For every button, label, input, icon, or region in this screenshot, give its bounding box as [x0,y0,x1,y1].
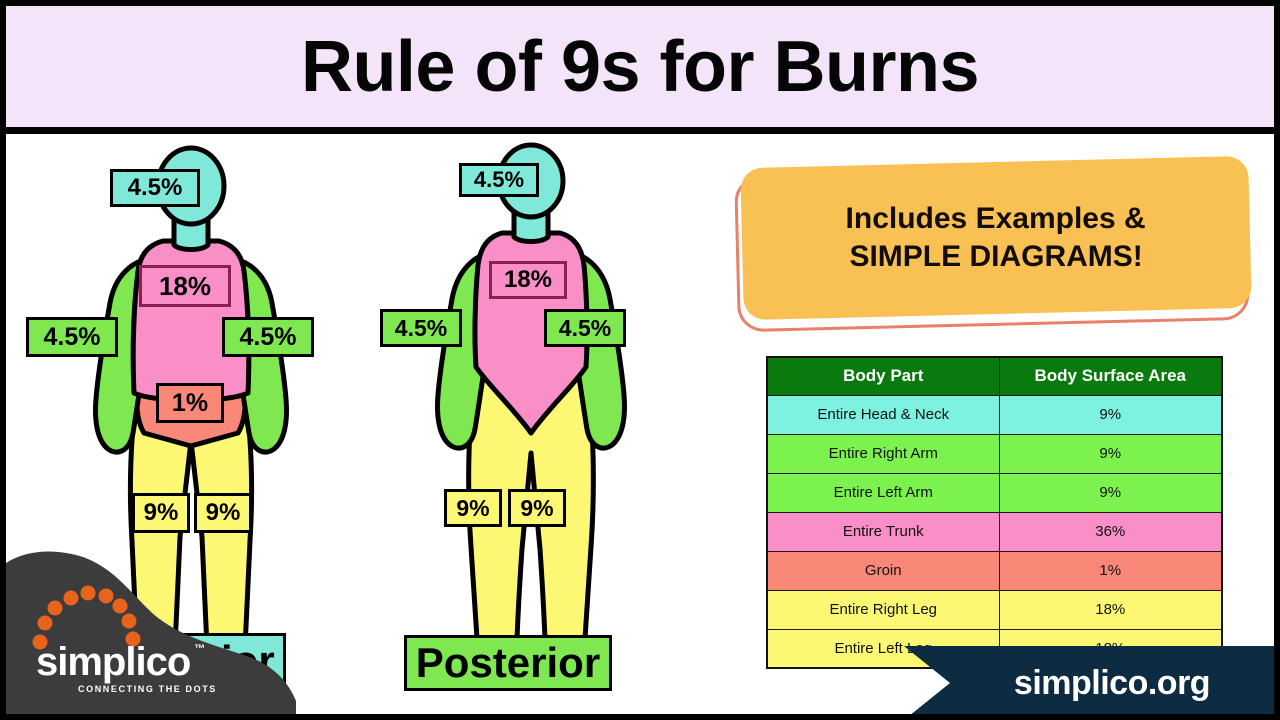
cell-body-part: Entire Left Arm [767,473,999,512]
cell-body-surface-area: 9% [999,473,1222,512]
posterior-body-diagram: 4.5% 18% 4.5% 4.5% 9% 9% Posterior [366,141,696,720]
table-row: Groin1% [767,551,1222,590]
anterior-right-arm-percent: 4.5% [26,317,118,357]
column-header-body-surface-area: Body Surface Area [999,357,1222,395]
title-banner: Rule of 9s for Burns [6,6,1274,134]
posterior-view-label: Posterior [404,635,612,691]
cell-body-surface-area: 36% [999,512,1222,551]
simplico-logo-text: simplico ™ CONNECTING THE DOTS [36,642,256,694]
callout-line-1: Includes Examples & [845,202,1145,236]
posterior-trunk-percent: 18% [489,261,567,299]
cell-body-surface-area: 18% [999,590,1222,629]
logo-tagline: CONNECTING THE DOTS [78,684,256,694]
column-header-body-part: Body Part [767,357,999,395]
body-surface-area-table: Body Part Body Surface Area Entire Head … [766,356,1223,669]
anterior-head-percent: 4.5% [110,169,200,207]
posterior-head-percent: 4.5% [459,163,539,197]
cell-body-part: Entire Right Leg [767,590,999,629]
infographic-page: Rule of 9s for Burns [0,0,1280,720]
anterior-groin-percent: 1% [156,383,224,423]
callout-line-2: SIMPLE DIAGRAMS! [850,240,1143,274]
anterior-left-leg-percent: 9% [194,493,252,533]
cell-body-part: Entire Head & Neck [767,395,999,434]
site-url-label: simplico.org [1014,664,1210,703]
logo-word-label: simplico [36,640,190,684]
table-row: Entire Right Leg18% [767,590,1222,629]
posterior-left-leg-percent: 9% [508,489,566,527]
cell-body-part: Entire Right Arm [767,434,999,473]
cell-body-surface-area: 9% [999,434,1222,473]
posterior-right-arm-percent: 4.5% [380,309,462,347]
logo-blob-shape [0,552,296,720]
anterior-trunk-percent: 18% [139,265,231,307]
cell-body-part: Entire Trunk [767,512,999,551]
cell-body-surface-area: 9% [999,395,1222,434]
anterior-left-arm-percent: 4.5% [222,317,314,357]
site-url-ribbon: simplico.org [904,646,1280,720]
posterior-right-leg-percent: 9% [444,489,502,527]
cell-body-part: Groin [767,551,999,590]
table-row: Entire Trunk36% [767,512,1222,551]
cell-body-surface-area: 1% [999,551,1222,590]
page-title: Rule of 9s for Burns [301,31,979,103]
anterior-right-leg-percent: 9% [132,493,190,533]
table-row: Entire Head & Neck9% [767,395,1222,434]
table-header-row: Body Part Body Surface Area [767,357,1222,395]
promo-callout: Includes Examples & SIMPLE DIAGRAMS! [732,160,1254,328]
posterior-left-arm-percent: 4.5% [544,309,626,347]
table-row: Entire Left Arm9% [767,473,1222,512]
trademark-icon: ™ [194,644,204,655]
logo-wordmark: simplico ™ [36,642,190,682]
callout-fill-shape: Includes Examples & SIMPLE DIAGRAMS! [740,156,1252,320]
posterior-body-svg [366,141,696,720]
table-body: Entire Head & Neck9%Entire Right Arm9%En… [767,395,1222,668]
table-row: Entire Right Arm9% [767,434,1222,473]
